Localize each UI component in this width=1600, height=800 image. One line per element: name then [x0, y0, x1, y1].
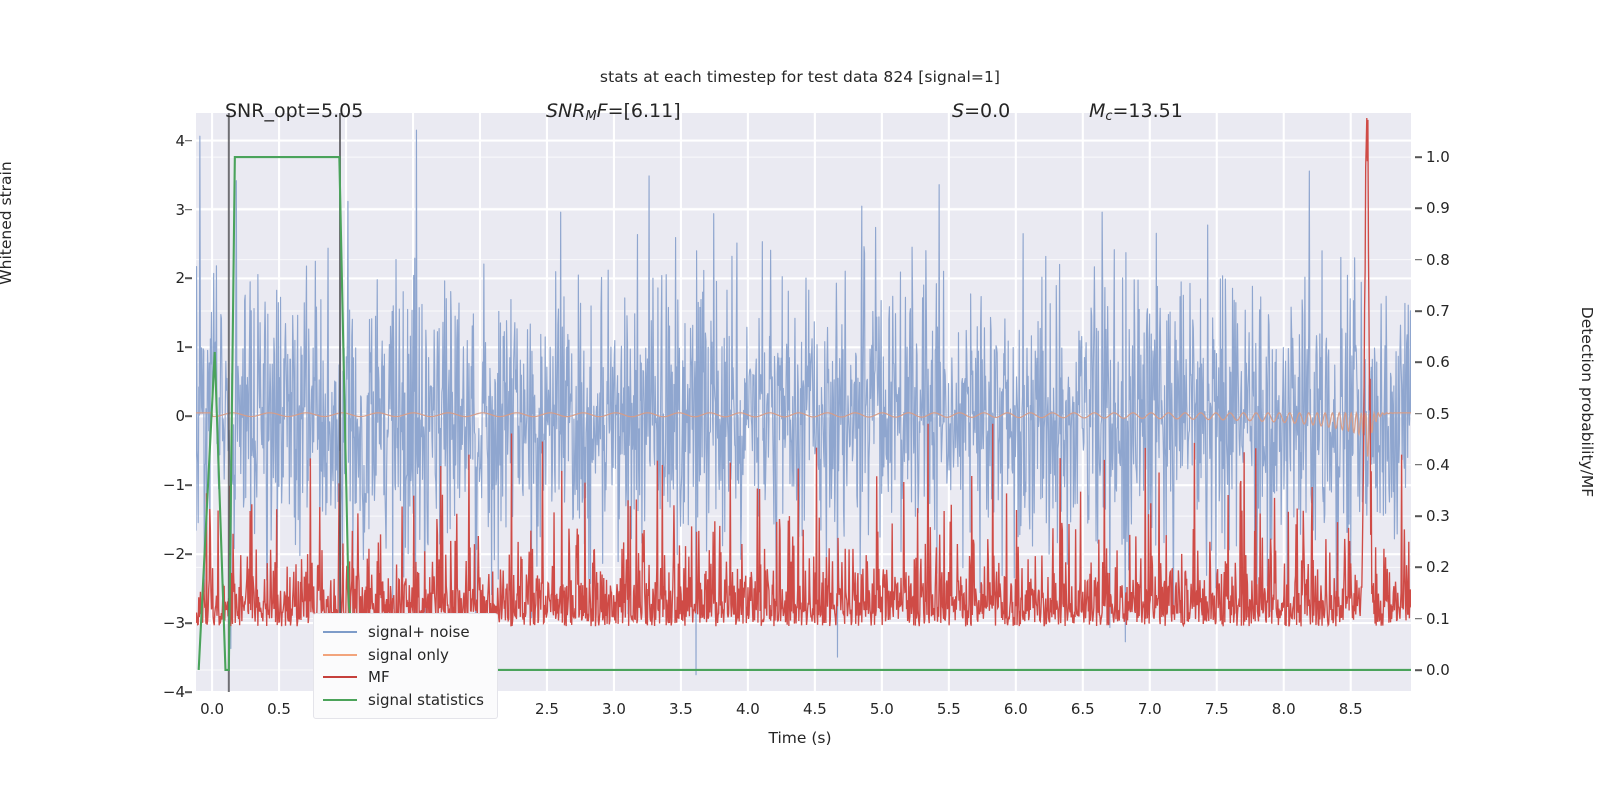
annotation-chirp-mass: Mc=13.51	[1089, 100, 1183, 124]
y-tick-mark-left	[185, 209, 192, 211]
x-axis-label: Time (s)	[0, 729, 1600, 747]
y-tick-label-right: 0.4	[1426, 456, 1450, 474]
y-tick-label-right: 0.5	[1426, 405, 1450, 423]
x-tick-label: 4.5	[803, 700, 827, 718]
y-tick-mark-right	[1415, 208, 1422, 210]
legend-item-label: signal only	[368, 646, 449, 664]
legend-item[interactable]: signal+ noise	[323, 621, 484, 644]
plot-area[interactable]	[196, 113, 1411, 692]
annotation-s-stat: S=0.0	[952, 100, 1010, 122]
legend-swatch-line-icon	[323, 654, 357, 656]
annotation-snr-opt: SNR_opt=5.05	[225, 100, 363, 122]
y-tick-mark-right	[1415, 618, 1422, 620]
y-tick-label-right: 0.7	[1426, 302, 1450, 320]
y-tick-mark-right	[1415, 259, 1422, 261]
legend-swatch-line-icon	[323, 631, 357, 633]
y-tick-mark-left	[185, 278, 192, 280]
y-tick-mark-left	[185, 415, 192, 417]
y-tick-label-right: 0.0	[1426, 661, 1450, 679]
y-tick-label-right: 0.1	[1426, 610, 1450, 628]
legend-swatch-line-icon	[323, 699, 357, 701]
y-tick-label-left: −4	[163, 683, 185, 701]
y-tick-label-left: 0	[175, 407, 185, 425]
y-tick-label-left: −2	[163, 545, 185, 563]
y-tick-label-right: 0.9	[1426, 199, 1450, 217]
y-tick-mark-right	[1415, 413, 1422, 415]
y-tick-mark-right	[1415, 156, 1422, 158]
y-tick-label-left: 4	[175, 132, 185, 150]
figure-canvas: stats at each timestep for test data 824…	[0, 0, 1600, 800]
x-tick-label: 7.0	[1138, 700, 1162, 718]
legend-item[interactable]: signal statistics	[323, 689, 484, 712]
y-tick-mark-left	[185, 622, 192, 624]
x-tick-label: 7.5	[1205, 700, 1229, 718]
y-tick-mark-left	[185, 553, 192, 555]
legend-item[interactable]: MF	[323, 666, 484, 689]
x-tick-label: 8.0	[1272, 700, 1296, 718]
legend-item-label: MF	[368, 668, 390, 686]
x-tick-label: 8.5	[1339, 700, 1363, 718]
x-tick-label: 0.0	[200, 700, 224, 718]
legend-swatch-line-icon	[323, 676, 357, 678]
x-tick-label: 5.0	[870, 700, 894, 718]
y-tick-label-right: 0.3	[1426, 507, 1450, 525]
y-tick-label-left: 1	[175, 338, 185, 356]
y-tick-mark-right	[1415, 361, 1422, 363]
legend-item-label: signal+ noise	[368, 623, 470, 641]
y-tick-label-left: −1	[163, 476, 185, 494]
y-tick-mark-left	[185, 484, 192, 486]
y-tick-label-left: 3	[175, 201, 185, 219]
y-tick-label-left: 2	[175, 269, 185, 287]
legend[interactable]: signal+ noisesignal onlyMFsignal statist…	[313, 613, 498, 719]
y-tick-label-right: 0.8	[1426, 251, 1450, 269]
y-tick-label-right: 1.0	[1426, 148, 1450, 166]
y-tick-mark-right	[1415, 515, 1422, 517]
x-tick-label: 5.5	[937, 700, 961, 718]
x-tick-label: 2.5	[535, 700, 559, 718]
y-tick-label-right: 0.2	[1426, 558, 1450, 576]
y-tick-mark-left	[185, 140, 192, 142]
x-tick-label: 4.0	[736, 700, 760, 718]
legend-item[interactable]: signal only	[323, 644, 484, 667]
x-tick-label: 3.0	[602, 700, 626, 718]
page-title: stats at each timestep for test data 824…	[0, 68, 1600, 86]
x-tick-label: 0.5	[267, 700, 291, 718]
y-tick-mark-right	[1415, 464, 1422, 466]
y-axis-label-left: Whitened strain	[0, 43, 15, 403]
y-tick-mark-right	[1415, 567, 1422, 569]
y-tick-mark-left	[185, 347, 192, 349]
data-layer	[196, 113, 1411, 692]
x-tick-label: 6.0	[1004, 700, 1028, 718]
y-tick-mark-left	[185, 691, 192, 693]
y-tick-mark-right	[1415, 310, 1422, 312]
x-tick-label: 3.5	[669, 700, 693, 718]
y-tick-label-left: −3	[163, 614, 185, 632]
y-axis-label-right: Detection probability/MF	[1578, 157, 1596, 647]
x-tick-label: 6.5	[1071, 700, 1095, 718]
y-tick-mark-right	[1415, 669, 1422, 671]
y-tick-label-right: 0.6	[1426, 353, 1450, 371]
legend-item-label: signal statistics	[368, 691, 484, 709]
annotation-snr-mf: SNRMF=[6.11]	[546, 100, 681, 124]
